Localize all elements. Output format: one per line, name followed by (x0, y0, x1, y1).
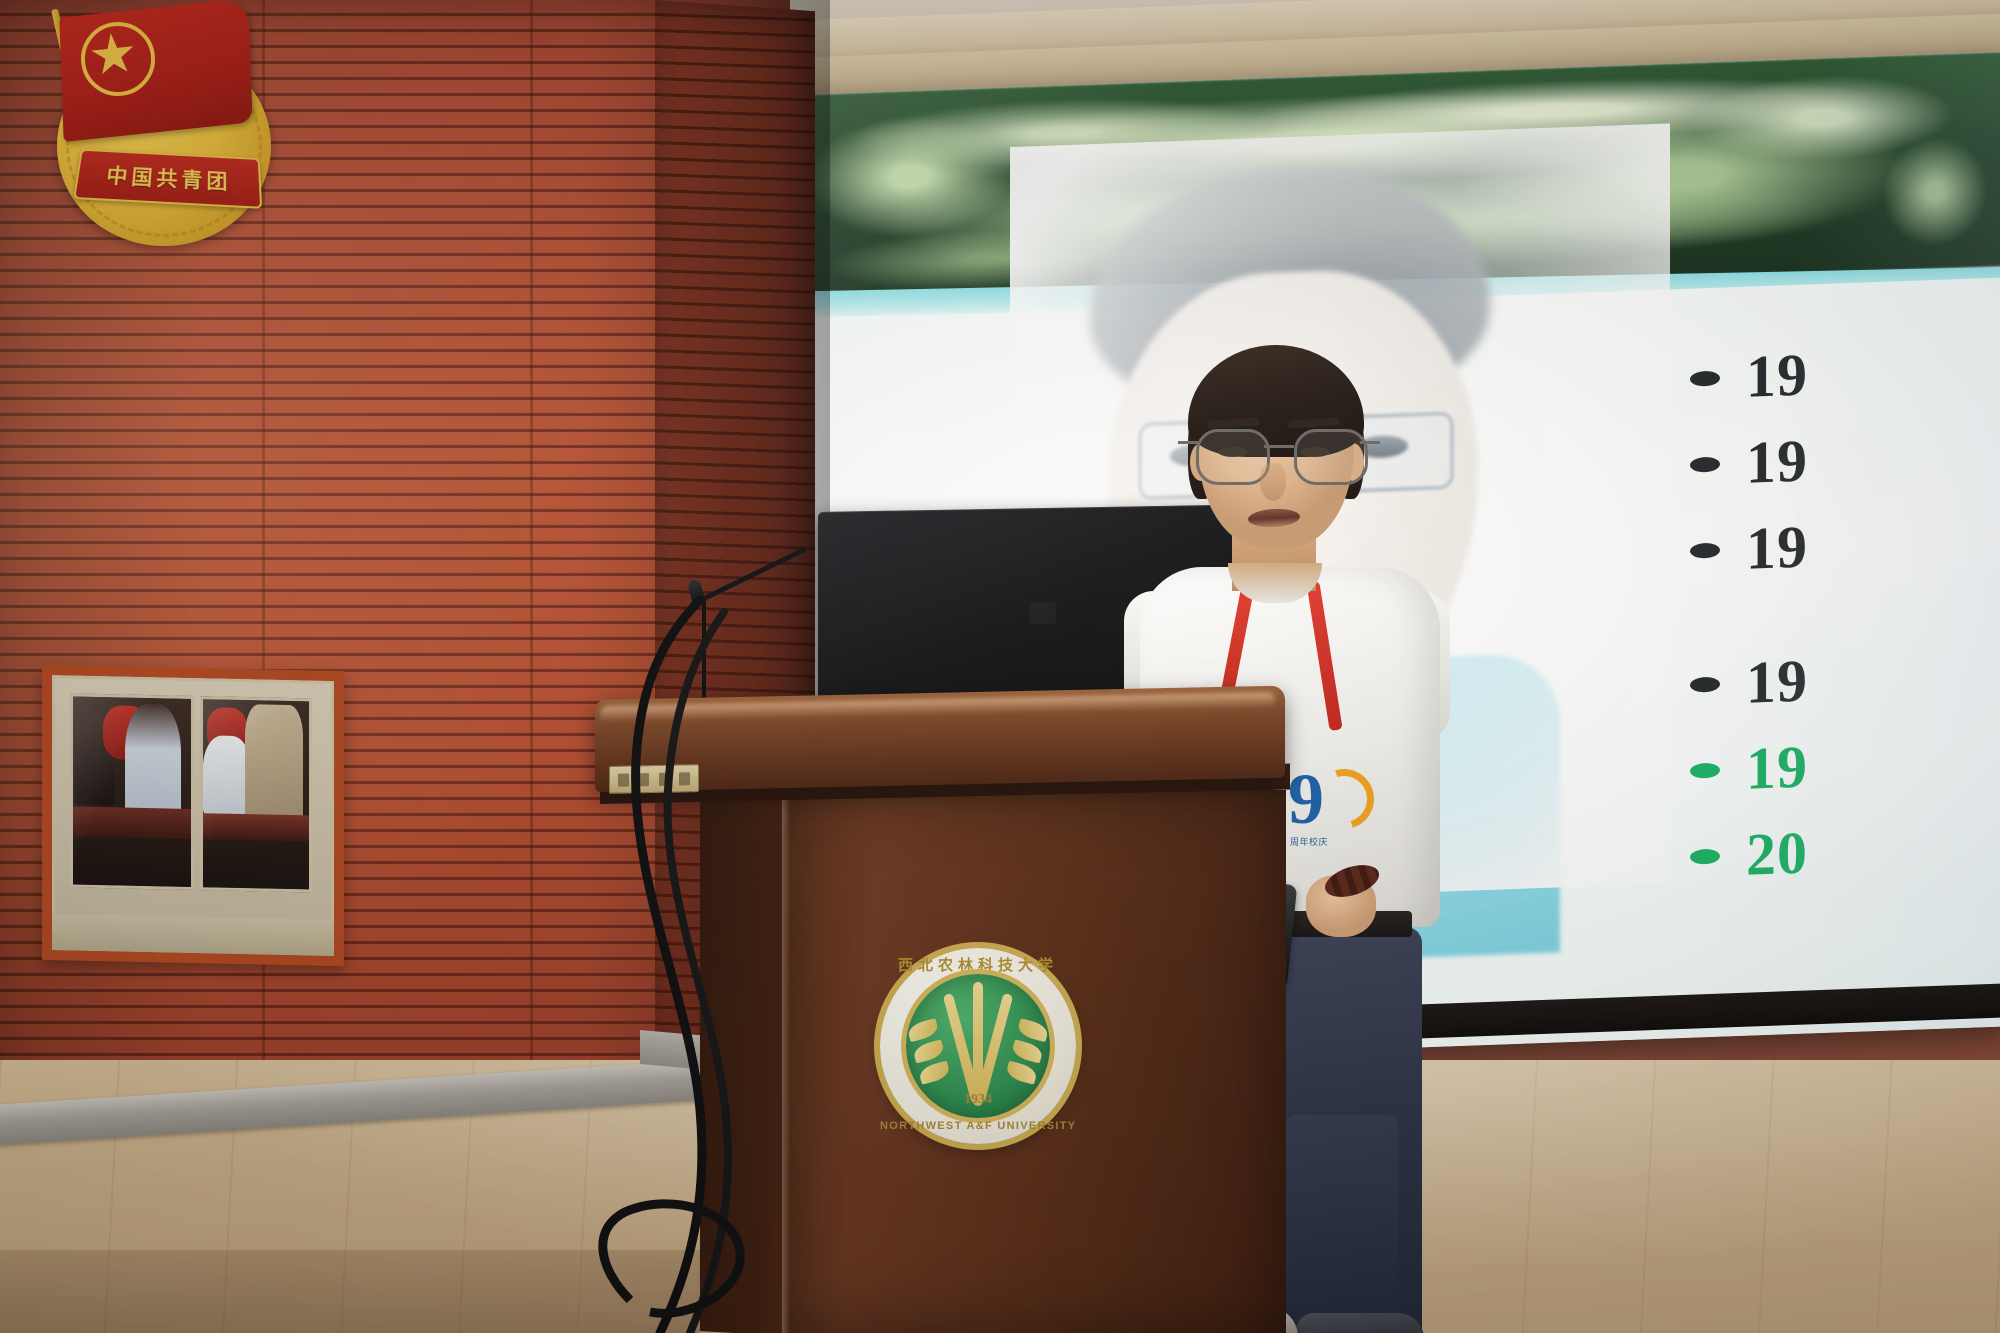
plaque-button-icon[interactable] (659, 772, 670, 785)
bullet-label: 19 (1746, 732, 1808, 803)
bullet-label: 19 (1746, 426, 1808, 497)
window-desk (203, 813, 309, 841)
presenter-shirt-logo: 9 周年校庆 (1288, 763, 1366, 849)
lecture-hall-scene: 19 19 19 19 19 20 (0, 0, 2000, 1333)
emblem-banner-text: 中国共青团 (105, 160, 232, 196)
seal-founded-year: 1934 (880, 1092, 1076, 1108)
slide-bullet-item: 19 (1690, 425, 2000, 493)
window-pane-left[interactable] (70, 693, 194, 890)
presenter-shoe-right (1296, 1313, 1424, 1333)
audience-figure (203, 735, 251, 816)
bullet-dot-icon (1690, 676, 1720, 692)
university-seal: 西北农林科技大学 1934 NORTHWEST A&F UNIVERSITY (880, 948, 1076, 1144)
window-desk (73, 806, 191, 838)
slide-bullet-item: 19 (1690, 645, 2000, 713)
bullet-label: 19 (1746, 512, 1808, 583)
lectern-edge-highlight (782, 790, 790, 1333)
lectern-left-face (700, 783, 792, 1333)
floor-shadow (0, 1250, 700, 1333)
presenter-leg-right (1286, 1115, 1398, 1333)
slide-bullet-item: 19 (1690, 731, 2000, 799)
bullet-dot-icon (1690, 370, 1720, 386)
sliding-window[interactable] (42, 665, 344, 966)
bullet-dot-icon (1690, 762, 1720, 778)
shirt-logo-subtitle: 周年校庆 (1290, 835, 1328, 848)
slide-bullet-item: 19 (1690, 339, 2000, 407)
laptop-logo-icon (1030, 601, 1056, 623)
plaque-button-icon[interactable] (618, 773, 629, 786)
plaque-button-icon[interactable] (679, 772, 690, 785)
bullet-dot-icon (1690, 456, 1720, 472)
bullet-label: 19 (1746, 646, 1808, 717)
wall-seam (530, 0, 533, 1230)
slide-bullet-list: 19 19 19 19 19 20 (1690, 339, 2000, 915)
window-pane-right[interactable] (200, 696, 312, 892)
emblem-banner: 中国共青团 (73, 149, 262, 209)
presenter-nose (1260, 463, 1286, 501)
lectern-control-plaque[interactable] (609, 764, 699, 794)
youth-league-emblem: 中国共青团 (25, 4, 335, 249)
plaque-button-icon[interactable] (638, 773, 649, 786)
bullet-dot-icon (1690, 542, 1720, 558)
window-sill (52, 914, 334, 956)
slide-bullet-item: 19 (1690, 511, 2000, 579)
seal-english-name: NORTHWEST A&F UNIVERSITY (880, 1120, 1076, 1132)
bullet-dot-icon (1690, 848, 1720, 864)
bullet-label: 19 (1746, 340, 1808, 411)
audience-figure (125, 704, 181, 823)
